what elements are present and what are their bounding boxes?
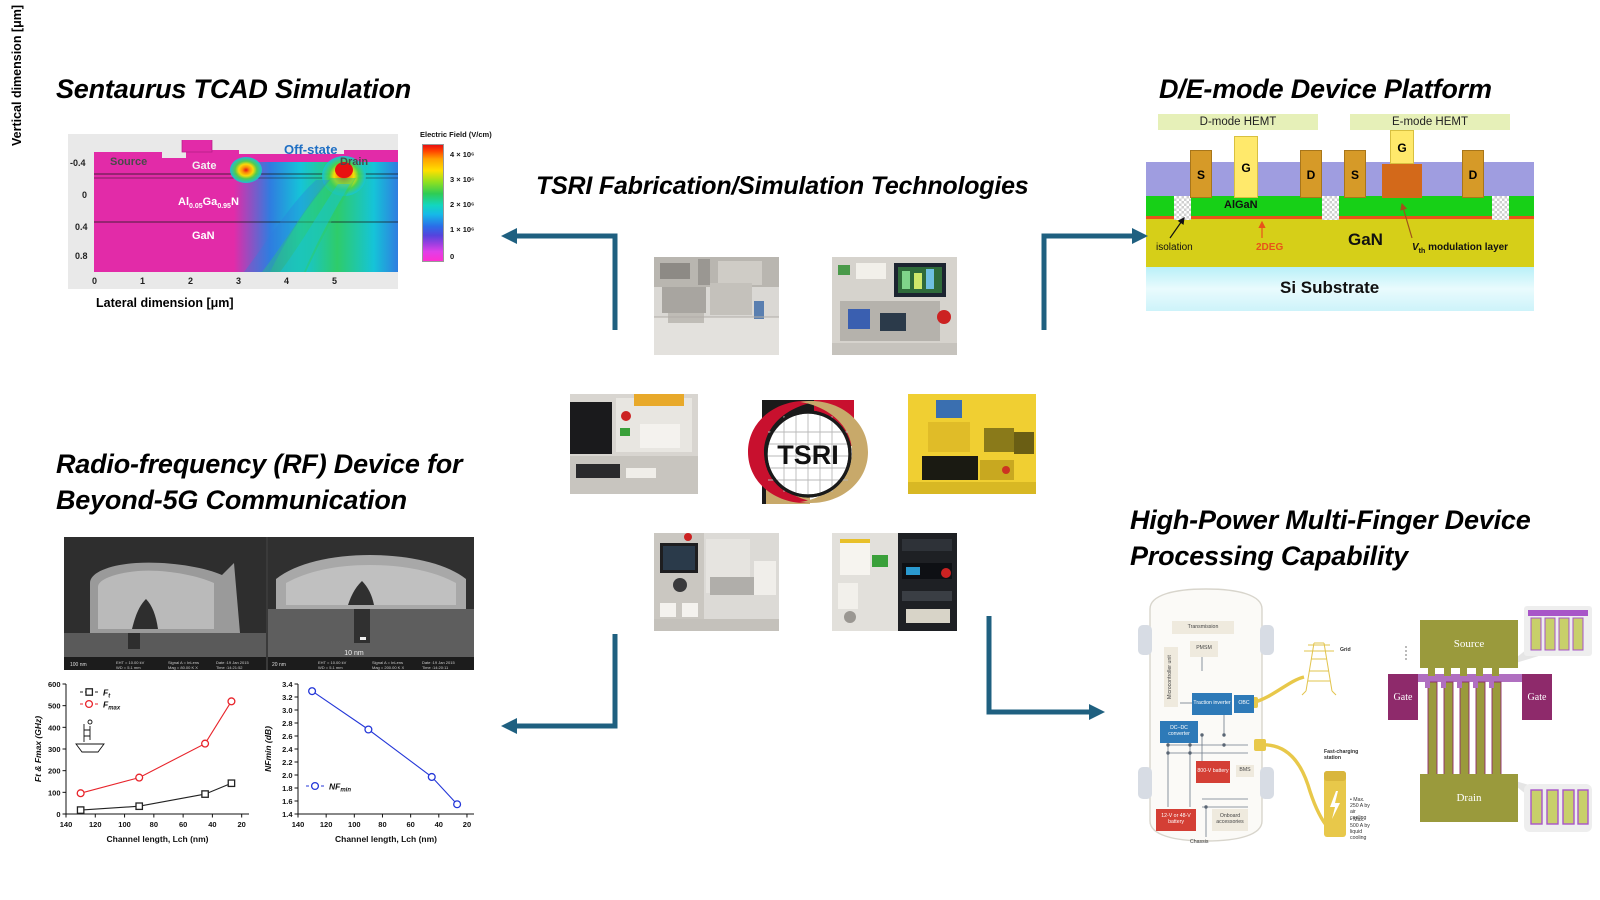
- svg-text:3.2: 3.2: [282, 693, 292, 702]
- contact-d-source: S: [1190, 150, 1212, 198]
- tcad-offstate-label: Off-state: [284, 142, 337, 157]
- svg-text:1.6: 1.6: [282, 797, 292, 806]
- contact-e-drain: D: [1462, 150, 1484, 198]
- svg-text:140: 140: [292, 820, 305, 829]
- svg-text:60: 60: [179, 820, 187, 829]
- colorbar-tick-0: 4 × 10⁶: [450, 150, 475, 159]
- svg-text:0: 0: [56, 810, 60, 819]
- svg-text:WD = 5.1 mm: WD = 5.1 mm: [116, 665, 141, 670]
- svg-text:Ft & Fmax (GHz): Ft & Fmax (GHz): [33, 716, 43, 782]
- tcad-label-gate: Gate: [192, 160, 216, 172]
- ev-800v-battery: 800-V battery: [1196, 761, 1230, 783]
- contact-d-gate: G: [1234, 136, 1258, 198]
- tcad-simulation-panel: Vertical dimension [μm]: [16, 128, 516, 318]
- center-title: TSRI Fabrication/Simulation Technologies: [536, 170, 1029, 203]
- tcad-layer-gan: GaN: [192, 230, 215, 242]
- tcad-xtick-2: 2: [188, 276, 193, 286]
- ev-spec-liquid-cooling: • Max. 500 A by liquid cooling: [1350, 817, 1370, 841]
- svg-text:Mag = 80.00 K X: Mag = 80.00 K X: [168, 665, 198, 670]
- colorbar-tick-1: 3 × 10⁶: [450, 175, 475, 184]
- svg-text:10 nm: 10 nm: [344, 650, 364, 657]
- arrow-to-de-mode: [1040, 222, 1150, 334]
- svg-text:600: 600: [48, 680, 61, 689]
- svg-text:100: 100: [348, 820, 361, 829]
- svg-text:Time :14:20:11: Time :14:20:11: [422, 665, 449, 670]
- label-2deg: 2DEG: [1256, 242, 1283, 253]
- svg-text:500: 500: [48, 702, 61, 711]
- tag-d-mode-hemt: D-mode HEMT: [1158, 114, 1318, 130]
- ev-station-label: Fast-charging station: [1324, 749, 1368, 761]
- tag-e-mode-hemt: E-mode HEMT: [1350, 114, 1510, 130]
- svg-text:200: 200: [48, 767, 61, 776]
- mf-source-pad: Source: [1420, 620, 1518, 668]
- ev-transmission: Transmission: [1172, 621, 1234, 634]
- vth-modulation-block: [1382, 164, 1422, 198]
- svg-text:80: 80: [378, 820, 386, 829]
- tcad-layer-barrier: Al0.05Ga0.95N: [178, 196, 239, 210]
- chart-nfmin: 1.41.61.82.02.22.42.62.83.03.23.41401201…: [262, 674, 482, 844]
- photo-wet-bench-station: [654, 533, 779, 631]
- section-title-de-mode: D/E-mode Device Platform: [1159, 72, 1492, 108]
- photo-measurement-workstation: [570, 394, 698, 494]
- label-si-substrate: Si Substrate: [1280, 278, 1379, 298]
- svg-text:1.4: 1.4: [282, 810, 293, 819]
- label-algan: AlGaN: [1224, 199, 1258, 211]
- tcad-xtick-4: 4: [284, 276, 289, 286]
- tsri-logo: TSRI: [744, 392, 872, 518]
- svg-text:100: 100: [118, 820, 131, 829]
- svg-text:80: 80: [150, 820, 158, 829]
- svg-text:300: 300: [48, 745, 61, 754]
- svg-text:20 nm: 20 nm: [272, 662, 286, 668]
- label-isolation: isolation: [1156, 242, 1193, 253]
- layer-algan: [1146, 196, 1534, 218]
- svg-text:2.8: 2.8: [282, 719, 292, 728]
- svg-text:120: 120: [320, 820, 333, 829]
- tcad-ytick-3: 0.8: [75, 251, 88, 261]
- photo-etcher-tool: [832, 257, 957, 355]
- colorbar-gradient: [422, 144, 444, 262]
- ev-traction-inverter: Traction inverter: [1192, 693, 1232, 715]
- isolation-region-3: [1492, 196, 1509, 220]
- isolation-region-2: [1322, 196, 1339, 220]
- isolation-region-1: [1174, 196, 1191, 220]
- ev-dcdc-converter: DC–DC converter: [1160, 721, 1198, 743]
- svg-text:120: 120: [89, 820, 102, 829]
- svg-text:1.8: 1.8: [282, 784, 292, 793]
- tcad-xtick-3: 3: [236, 276, 241, 286]
- svg-text:Time :14:21:52: Time :14:21:52: [216, 665, 243, 670]
- sem-images: 100 nm EHT = 10.00 kV WD = 5.1 mm Signal…: [64, 537, 474, 670]
- ev-onboard-accessories: Onboard accessories: [1212, 809, 1248, 831]
- mf-drain-pad: Drain: [1420, 774, 1518, 822]
- svg-text:40: 40: [208, 820, 216, 829]
- ev-obc: OBC: [1234, 695, 1254, 713]
- arrow-to-rf: [495, 630, 625, 742]
- photo-deposition-tool: [654, 257, 779, 355]
- section-title-tcad: Sentaurus TCAD Simulation: [56, 72, 411, 108]
- ev-car-outline: [1128, 585, 1368, 847]
- tcad-plot-area: -0.4 0 0.4 0.8 0 1 2 3 4 5 Source Gate D…: [68, 134, 398, 289]
- svg-text:2.0: 2.0: [282, 771, 292, 780]
- label-gan: GaN: [1348, 230, 1383, 250]
- ev-microcontroller-unit: Microcontroller unit: [1164, 647, 1178, 707]
- svg-text:100 nm: 100 nm: [70, 662, 87, 668]
- tcad-xtick-1: 1: [140, 276, 145, 286]
- tcad-y-axis-label: Vertical dimension [μm]: [10, 5, 24, 146]
- tcad-xtick-0: 0: [92, 276, 97, 286]
- multifinger-device-layout: Source Drain Gate Gate: [1382, 588, 1594, 846]
- tcad-label-source: Source: [110, 156, 147, 168]
- section-title-high-power: High-Power Multi-Finger Device Processin…: [1130, 503, 1570, 574]
- svg-text:3.4: 3.4: [282, 680, 293, 689]
- tcad-colorbar: Electric Field (V/cm) 4 × 10⁶ 3 × 10⁶ 2 …: [420, 130, 520, 139]
- tcad-ytick-1: 0: [82, 190, 87, 200]
- svg-text:400: 400: [48, 723, 61, 732]
- section-title-rf: Radio-frequency (RF) Device for Beyond-5…: [56, 447, 506, 518]
- svg-text:60: 60: [406, 820, 414, 829]
- contact-e-source: S: [1344, 150, 1366, 198]
- svg-text:WD = 5.1 mm: WD = 5.1 mm: [318, 665, 343, 670]
- svg-text:140: 140: [60, 820, 73, 829]
- ev-grid-label: Grid: [1340, 647, 1351, 653]
- tsri-logo-text: TSRI: [777, 440, 839, 470]
- svg-text:20: 20: [238, 820, 246, 829]
- svg-text:Channel length, Lch (nm): Channel length, Lch (nm): [335, 834, 437, 844]
- svg-text:100: 100: [48, 788, 61, 797]
- svg-text:Channel length, Lch (nm): Channel length, Lch (nm): [107, 834, 209, 844]
- svg-text:2.6: 2.6: [282, 732, 292, 741]
- label-vth-modulation: Vth modulation layer: [1412, 242, 1508, 255]
- arrow-to-tcad: [495, 222, 625, 334]
- mf-gate-pad-right: Gate: [1522, 674, 1552, 720]
- ev-pmsm: PMSM: [1190, 641, 1218, 657]
- contact-e-gate: G: [1390, 130, 1414, 164]
- svg-text:Mag = 200.00 K X: Mag = 200.00 K X: [372, 665, 404, 670]
- label-vth-text: modulation layer: [1428, 242, 1508, 253]
- svg-text:3.0: 3.0: [282, 706, 292, 715]
- colorbar-title: Electric Field (V/cm): [420, 130, 520, 139]
- svg-text:2.2: 2.2: [282, 758, 292, 767]
- photo-lithography-cleanroom: [908, 394, 1036, 494]
- ev-12v-48v-battery: 12-V or 48-V battery: [1156, 809, 1196, 831]
- svg-text:40: 40: [435, 820, 443, 829]
- colorbar-tick-4: 0: [450, 252, 454, 261]
- chart-ft-fmax: 010020030040050060014012010080604020FtFm…: [32, 674, 257, 844]
- contact-d-drain: D: [1300, 150, 1322, 198]
- mf-gate-pad-left: Gate: [1388, 674, 1418, 720]
- photo-process-control-rack: [832, 533, 957, 631]
- tcad-ytick-0: -0.4: [70, 158, 86, 168]
- svg-text:20: 20: [463, 820, 471, 829]
- ev-powertrain-diagram: Transmission PMSM Microcontroller unit T…: [1128, 585, 1368, 847]
- tcad-x-axis-label: Lateral dimension [μm]: [96, 296, 234, 310]
- colorbar-tick-3: 1 × 10⁶: [450, 225, 475, 234]
- de-mode-platform-panel: D-mode HEMT E-mode HEMT S G D S G D AlGa…: [1140, 112, 1540, 324]
- tcad-xtick-5: 5: [332, 276, 337, 286]
- ev-bms: BMS: [1236, 765, 1254, 777]
- colorbar-tick-2: 2 × 10⁶: [450, 200, 475, 209]
- svg-text:2.4: 2.4: [282, 745, 293, 754]
- svg-text:NFmin (dB): NFmin (dB): [263, 726, 273, 772]
- arrow-to-high-power: [985, 612, 1115, 724]
- tcad-ytick-2: 0.4: [75, 222, 88, 232]
- ev-chassis-label: Chassis: [1190, 839, 1208, 845]
- tcad-label-drain: Drain: [340, 156, 368, 168]
